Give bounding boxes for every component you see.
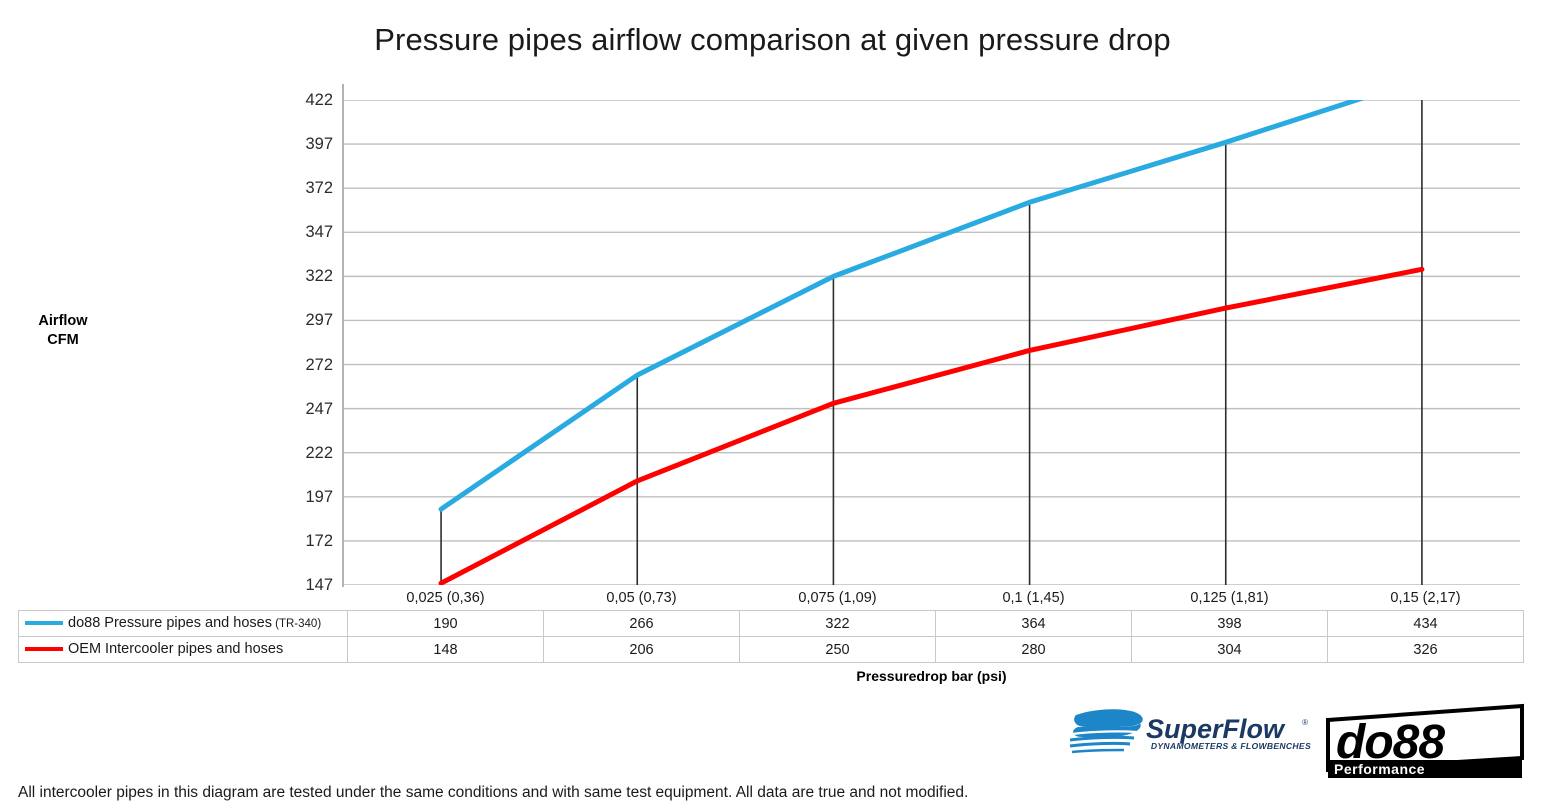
table-cell-value: 266	[544, 611, 740, 637]
series-line	[441, 269, 1422, 583]
x-axis-category-label: 0,125 (1,81)	[1132, 585, 1328, 611]
superflow-swoosh-icon	[1070, 709, 1143, 752]
series-lines	[441, 100, 1422, 583]
superflow-logo: SuperFlow ® DYNAMOMETERS & FLOWBENCHES	[1068, 705, 1313, 760]
superflow-logo-svg: SuperFlow ® DYNAMOMETERS & FLOWBENCHES	[1068, 705, 1313, 760]
y-axis-tick-label: 347	[273, 224, 333, 240]
legend-label: OEM Intercooler pipes and hoses	[68, 642, 283, 658]
table-cell-value: 148	[348, 637, 544, 663]
plot-area	[343, 100, 1520, 585]
y-axis-tick-label: 272	[273, 357, 333, 373]
y-axis-line	[342, 84, 344, 587]
table-cell-value: 398	[1132, 611, 1328, 637]
y-axis-tick-label: 247	[273, 401, 333, 417]
table-header-row: 0,025 (0,36)0,05 (0,73)0,075 (1,09)0,1 (…	[19, 585, 1524, 611]
x-axis-category-label: 0,075 (1,09)	[740, 585, 936, 611]
footer-note: All intercooler pipes in this diagram ar…	[18, 784, 968, 802]
y-axis-tick-label: 322	[273, 268, 333, 284]
legend-swatch-icon	[25, 621, 63, 625]
legend-label: do88 Pressure pipes and hoses	[68, 616, 272, 632]
legend-label-suffix: (TR-340)	[272, 618, 321, 630]
x-axis-category-label: 0,025 (0,36)	[348, 585, 544, 611]
table-row: OEM Intercooler pipes and hoses148206250…	[19, 637, 1524, 663]
do88-logo: do88 Performance	[1322, 700, 1527, 780]
x-axis-category-label: 0,15 (2,17)	[1328, 585, 1524, 611]
y-axis-title-line1: Airflow	[8, 312, 118, 331]
y-axis-tick-label: 422	[273, 92, 333, 108]
data-table: 0,025 (0,36)0,05 (0,73)0,075 (1,09)0,1 (…	[18, 585, 1524, 663]
y-axis-tick-label: 297	[273, 312, 333, 328]
y-axis-tick-label: 172	[273, 533, 333, 549]
gridlines	[343, 100, 1520, 585]
table-cell-value: 322	[740, 611, 936, 637]
y-axis-title-line2: CFM	[8, 331, 118, 350]
x-axis-category-label: 0,05 (0,73)	[544, 585, 740, 611]
y-axis-tick-label: 372	[273, 180, 333, 196]
do88-logo-svg: do88 Performance	[1322, 700, 1527, 780]
table-cell-value: 250	[740, 637, 936, 663]
superflow-trademark-icon: ®	[1302, 718, 1308, 727]
table-cell-value: 206	[544, 637, 740, 663]
legend-swatch-icon	[25, 647, 63, 651]
table-cell-value: 326	[1328, 637, 1524, 663]
table-corner-cell	[19, 585, 348, 611]
y-axis-tick-label: 197	[273, 489, 333, 505]
series-line	[441, 100, 1422, 509]
table-row: do88 Pressure pipes and hoses (TR-340)19…	[19, 611, 1524, 637]
table-cell-value: 280	[936, 637, 1132, 663]
y-axis-tick-label: 222	[273, 445, 333, 461]
legend-entry: OEM Intercooler pipes and hoses	[19, 637, 348, 663]
chart-canvas	[343, 100, 1520, 585]
table-cell-value: 190	[348, 611, 544, 637]
y-axis-tick-label: 397	[273, 136, 333, 152]
logo-row: SuperFlow ® DYNAMOMETERS & FLOWBENCHES d…	[1060, 700, 1530, 780]
table-cell-value: 304	[1132, 637, 1328, 663]
x-axis-category-label: 0,1 (1,45)	[936, 585, 1132, 611]
x-axis-title: Pressuredrop bar (psi)	[343, 668, 1520, 684]
page-title: Pressure pipes airflow comparison at giv…	[0, 22, 1545, 58]
legend-entry: do88 Pressure pipes and hoses (TR-340)	[19, 611, 348, 637]
table-cell-value: 434	[1328, 611, 1524, 637]
y-axis-tick-labels: 147172197222247272297322347372397422	[273, 100, 333, 585]
superflow-tagline: DYNAMOMETERS & FLOWBENCHES	[1151, 741, 1311, 751]
category-droplines	[441, 100, 1422, 585]
table-cell-value: 364	[936, 611, 1132, 637]
do88-tagline: Performance	[1334, 761, 1425, 777]
superflow-wordmark: SuperFlow	[1146, 714, 1286, 744]
y-axis-title: Airflow CFM	[8, 312, 118, 350]
